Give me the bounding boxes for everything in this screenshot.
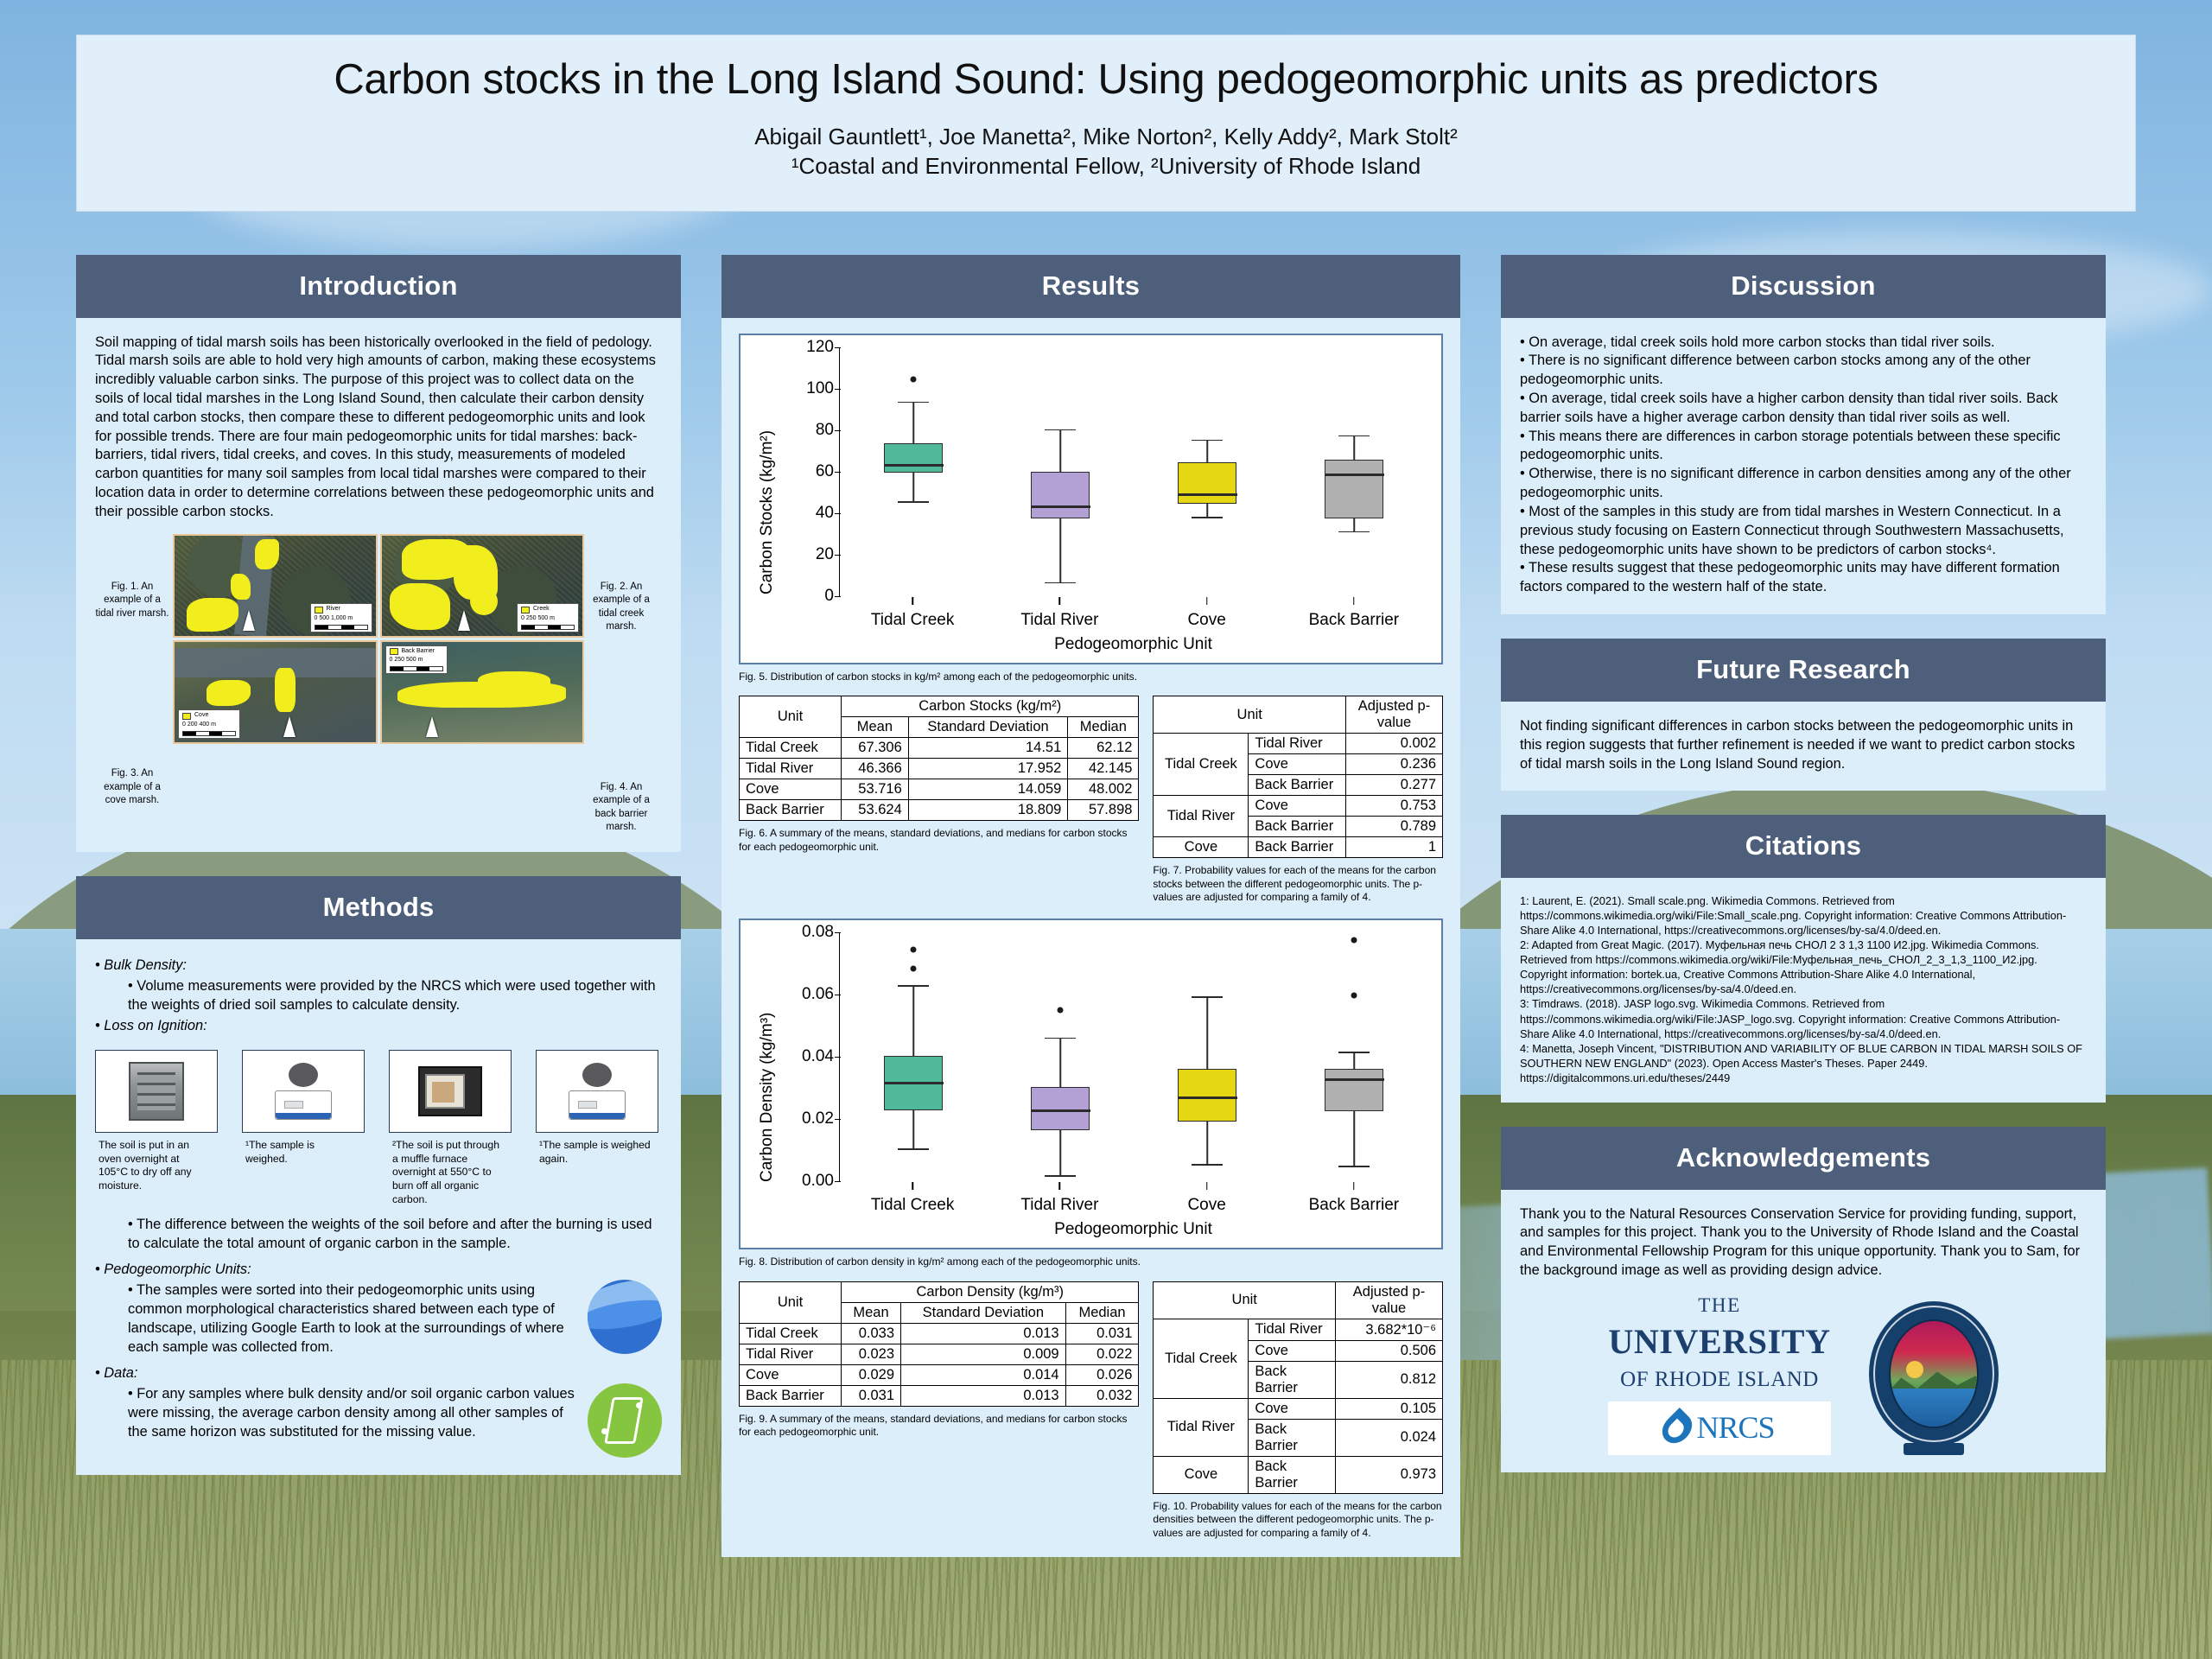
table-cell: 17.952 (908, 759, 1068, 779)
table-header-pvalue: Adjusted p-value (1336, 1281, 1443, 1319)
table-cell: 46.366 (842, 759, 909, 779)
table-header-unit: Unit (1154, 1281, 1336, 1319)
flow-step: The soil is put in an oven overnight at … (95, 1050, 218, 1193)
boxplot-cap-lower (898, 1148, 928, 1150)
section-header-introduction: Introduction (76, 255, 681, 318)
table-row: Tidal Creek0.0330.0130.031 (740, 1323, 1139, 1344)
table-cell: Cove (740, 1364, 842, 1385)
boxplot-whisker-lower (1353, 518, 1355, 533)
table-row: Tidal CreekTidal River0.002 (1154, 734, 1443, 754)
chart-y-tick: 0.04 (802, 1047, 834, 1066)
figure-1-caption: Fig. 1. An example of a tidal river mars… (95, 534, 169, 621)
flow-step: ¹The sample is weighed again. (536, 1050, 658, 1166)
table-row: CoveBack Barrier1 (1154, 837, 1443, 858)
boxplot-cap-upper (1192, 996, 1222, 998)
boxplot-box (1178, 462, 1236, 504)
north-arrow-icon (426, 716, 438, 737)
boxplot-group (884, 932, 943, 1181)
table-header-pvalue: Adjusted p-value (1346, 696, 1443, 734)
table-carbon-stocks-pvalues: Unit Adjusted p-value Tidal CreekTidal R… (1153, 696, 1443, 858)
chart-y-tick: 0 (824, 587, 834, 606)
boxplot-median (1178, 1096, 1237, 1099)
future-research-text: Not finding significant differences in c… (1520, 717, 2087, 773)
authors-line: Abigail Gauntlett¹, Joe Manetta², Mike N… (111, 122, 2101, 151)
figure-1-scale-label: 0 500 1,000 m (315, 615, 353, 623)
chart-x-tick-label: Tidal River (986, 596, 1133, 630)
boxplot-group (1031, 932, 1090, 1181)
table-cell-unit-b: Back Barrier (1249, 1361, 1336, 1398)
introduction-text: Soil mapping of tidal marsh soils has be… (95, 334, 662, 522)
table-cell-pvalue: 0.105 (1336, 1398, 1443, 1419)
table-cell: 0.026 (1065, 1364, 1139, 1385)
uri-logo: THE UNIVERSITY OF RHODE ISLAND (1608, 1293, 1830, 1394)
methods-item: The difference between the weights of th… (128, 1216, 662, 1254)
chart-x-axis-label: Pedogeomorphic Unit (839, 1220, 1427, 1239)
boxplot-median (1325, 1078, 1384, 1081)
table-cell-unit-b: Back Barrier (1249, 817, 1346, 837)
drying-oven-icon (129, 1062, 184, 1121)
muffle-furnace-icon (418, 1066, 482, 1116)
affiliations-line: ¹Coastal and Environmental Fellow, ²Univ… (111, 151, 2101, 181)
table-cell: 0.033 (842, 1323, 901, 1344)
table-row: Tidal River0.0230.0090.022 (740, 1344, 1139, 1364)
figure-4-legend-label: Back Barrier (402, 648, 435, 656)
table-cell-unit-b: Cove (1249, 754, 1346, 775)
boxplot-whisker-lower (912, 473, 914, 503)
table-row: Cove0.0290.0140.026 (740, 1364, 1139, 1385)
table-carbon-stocks-summary: Unit Carbon Stocks (kg/m²) Mean Standard… (739, 696, 1139, 821)
chart-x-tick-label: Cove (1134, 596, 1281, 630)
balance-scale-icon (270, 1063, 337, 1120)
table-header-unit: Unit (740, 1281, 842, 1323)
table-header-median: Median (1065, 1302, 1139, 1323)
discussion-bullet: • Otherwise, there is no significant dif… (1520, 465, 2087, 503)
chart-y-tick: 100 (806, 379, 834, 398)
table-cell-pvalue: 3.682*10⁻⁶ (1336, 1319, 1443, 1340)
chart-carbon-stocks-boxplot: Carbon Stocks (kg/m²) 020406080100120 Ti… (739, 334, 1443, 664)
methods-panel: Bulk Density: Volume measurements were p… (76, 939, 681, 1475)
poster-banner: Carbon stocks in the Long Island Sound: … (76, 35, 2136, 212)
table-cell: Back Barrier (740, 1385, 842, 1406)
table-cell-pvalue: 0.236 (1346, 754, 1443, 775)
figure-5-caption: Fig. 5. Distribution of carbon stocks in… (739, 671, 1443, 684)
boxplot-cap-lower (1045, 1175, 1075, 1177)
boxplot-median (884, 464, 944, 467)
table-header-mean: Mean (842, 1302, 901, 1323)
google-earth-logo-icon (588, 1280, 662, 1354)
figure-2-scale-label: 0 250 500 m (521, 615, 555, 623)
boxplot-whisker-lower (912, 1110, 914, 1150)
table-cell-unit-b: Tidal River (1249, 734, 1346, 754)
chart-y-tick: 60 (816, 462, 834, 481)
table-cell: Cove (740, 779, 842, 800)
chart-y-axis-label: Carbon Density (kg/m³) (754, 932, 777, 1239)
figure-4-scale-label: 0 250 500 m (390, 657, 423, 664)
nrcs-logo: NRCS (1608, 1402, 1830, 1455)
table-cell: Back Barrier (740, 800, 842, 821)
table-cell: 0.023 (842, 1344, 901, 1364)
table-cell: Tidal Creek (740, 1323, 842, 1344)
acknowledgements-text: Thank you to the Natural Resources Conse… (1520, 1205, 2087, 1281)
chart-carbon-density-boxplot: Carbon Density (kg/m³) 0.000.020.040.060… (739, 918, 1443, 1249)
table-cell-unit-a: Cove (1154, 837, 1249, 858)
balance-scale-icon (563, 1063, 631, 1120)
boxplot-whisker-upper (1059, 430, 1061, 472)
boxplot-cap-upper (898, 402, 928, 404)
table-cell: 62.12 (1068, 738, 1139, 759)
figure-6-caption: Fig. 6. A summary of the means, standard… (739, 827, 1139, 854)
boxplot-median (1325, 474, 1384, 476)
uri-logo-line1: THE (1608, 1293, 1830, 1319)
table-row: Cove53.71614.05948.002 (740, 779, 1139, 800)
boxplot-whisker-upper (912, 987, 914, 1056)
methods-item: The samples were sorted into their pedog… (128, 1281, 579, 1357)
table-cell-unit-b: Back Barrier (1249, 1456, 1336, 1493)
table-cell: 0.014 (901, 1364, 1066, 1385)
boxplot-cap-upper (898, 985, 928, 987)
boxplot-cap-upper (1192, 440, 1222, 442)
figure-2-map-tidal-creek: Creek 0 250 500 m (380, 534, 585, 638)
table-header-mean: Mean (842, 717, 909, 738)
boxplot-box (884, 1056, 943, 1110)
future-research-panel: Not finding significant differences in c… (1501, 702, 2106, 791)
boxplot-cap-upper (1338, 435, 1369, 437)
citations-panel: 1: Laurent, E. (2021). Small scale.png. … (1501, 878, 2106, 1102)
boxplot-whisker-lower (1059, 518, 1061, 584)
boxplot-box (1325, 460, 1383, 518)
boxplot-box (884, 443, 943, 473)
table-cell: 0.013 (901, 1385, 1066, 1406)
methods-item: Bulk Density: (95, 957, 662, 976)
table-row: Tidal RiverCove0.753 (1154, 796, 1443, 817)
chart-y-tick: 0.06 (802, 985, 834, 1004)
table-cell-unit-b: Back Barrier (1249, 837, 1346, 858)
boxplot-group (1325, 347, 1383, 596)
figure-10-caption: Fig. 10. Probability values for each of … (1153, 1500, 1443, 1541)
table-header-unit: Unit (740, 696, 842, 738)
boxplot-whisker-upper (912, 403, 914, 443)
table-cell: 0.013 (901, 1323, 1066, 1344)
chart-y-tick: 120 (806, 338, 834, 357)
section-header-future-research: Future Research (1501, 639, 2106, 702)
table-row: Tidal RiverCove0.105 (1154, 1398, 1443, 1419)
boxplot-cap-upper (1338, 1052, 1369, 1053)
figure-3-legend-label: Cove (194, 712, 208, 720)
figure-3-caption: Fig. 3. An example of a cove marsh. (95, 620, 169, 808)
north-arrow-icon (458, 610, 470, 631)
discussion-bullet: • On average, tidal creek soils hold mor… (1520, 334, 2087, 353)
table-cell: 14.059 (908, 779, 1068, 800)
table-cell-unit-b: Back Barrier (1249, 775, 1346, 796)
boxplot-whisker-upper (1353, 436, 1355, 460)
section-header-discussion: Discussion (1501, 255, 2106, 318)
table-cell-unit-a: Tidal Creek (1154, 1319, 1249, 1398)
discussion-bullet: • On average, tidal creek soils have a h… (1520, 390, 2087, 428)
table-cell: 0.031 (842, 1385, 901, 1406)
boxplot-outlier (1351, 938, 1357, 944)
flow-step-caption: The soil is put in an oven overnight at … (95, 1133, 218, 1193)
boxplot-cap-upper (1045, 429, 1075, 431)
table-header-sd: Standard Deviation (908, 717, 1068, 738)
boxplot-median (884, 1082, 944, 1084)
table-cell-pvalue: 0.024 (1336, 1419, 1443, 1456)
boxplot-box (1178, 1069, 1236, 1121)
boxplot-cap-upper (1045, 1038, 1075, 1039)
chart-y-tick: 80 (816, 421, 834, 440)
boxplot-box (1325, 1069, 1383, 1110)
table-cell-unit-a: Tidal River (1154, 1398, 1249, 1456)
chart-y-tick: 40 (816, 504, 834, 523)
chart-y-axis: 020406080100120 (777, 347, 839, 596)
chart-y-axis: 0.000.020.040.060.08 (777, 932, 839, 1181)
methods-item: Data: (95, 1364, 662, 1383)
table-cell: 67.306 (842, 738, 909, 759)
jasp-logo-icon (588, 1383, 662, 1458)
discussion-bullet: • Most of the samples in this study are … (1520, 503, 2087, 559)
boxplot-cap-lower (1045, 582, 1075, 584)
figure-8-caption: Fig. 8. Distribution of carbon density i… (739, 1255, 1443, 1269)
chart-x-tick-label: Back Barrier (1281, 1181, 1427, 1215)
table-cell: 14.51 (908, 738, 1068, 759)
figure-2-caption: Fig. 2. An example of a tidal creek mars… (584, 534, 658, 634)
boxplot-cap-lower (1192, 517, 1222, 518)
table-cell-pvalue: 0.753 (1346, 796, 1443, 817)
table-carbon-density-summary: Unit Carbon Density (kg/m³) Mean Standar… (739, 1281, 1139, 1407)
boxplot-outlier (911, 946, 917, 952)
table-cell: 0.032 (1065, 1385, 1139, 1406)
section-header-results: Results (721, 255, 1460, 318)
table-cell-pvalue: 1 (1346, 837, 1443, 858)
boxplot-group (1031, 347, 1090, 596)
citation-entry: 2: Adapted from Great Magic. (2017). Муф… (1520, 938, 2087, 996)
discussion-bullet: • These results suggest that these pedog… (1520, 559, 2087, 597)
uri-logo-line3: OF RHODE ISLAND (1608, 1365, 1830, 1394)
boxplot-whisker-upper (1206, 998, 1208, 1070)
acknowledgements-panel: Thank you to the Natural Resources Conse… (1501, 1190, 2106, 1472)
table-cell-unit-b: Cove (1249, 1398, 1336, 1419)
chart-y-axis-label: Carbon Stocks (kg/m²) (754, 347, 777, 654)
figure-2-legend-label: Creek (533, 606, 550, 613)
table-super-header: Carbon Stocks (kg/m²) (842, 696, 1139, 717)
table-cell-unit-b: Cove (1249, 1340, 1336, 1361)
table-row: Back Barrier0.0310.0130.032 (740, 1385, 1139, 1406)
citation-entry: 1: Laurent, E. (2021). Small scale.png. … (1520, 893, 2087, 938)
boxplot-group (884, 347, 943, 596)
figure-3-scale-label: 0 200 400 m (182, 721, 216, 729)
methods-item: Loss on Ignition: (95, 1017, 662, 1036)
boxplot-box (1031, 1087, 1090, 1130)
boxplot-outlier (911, 377, 917, 383)
boxplot-whisker-upper (1206, 441, 1208, 462)
flow-step: ²The soil is put through a muffle furnac… (389, 1050, 512, 1207)
boxplot-outlier (1058, 1007, 1064, 1014)
table-carbon-density-pvalues: Unit Adjusted p-value Tidal CreekTidal R… (1153, 1281, 1443, 1494)
table-cell: 57.898 (1068, 800, 1139, 821)
table-cell: 42.145 (1068, 759, 1139, 779)
boxplot-cap-lower (898, 501, 928, 503)
table-cell-pvalue: 0.506 (1336, 1340, 1443, 1361)
chart-x-axis-label: Pedogeomorphic Unit (839, 635, 1427, 654)
chart-x-tick-label: Back Barrier (1281, 596, 1427, 630)
coastal-fellows-program-logo (1869, 1301, 1999, 1446)
flow-step-caption: ¹The sample is weighed. (242, 1133, 365, 1166)
boxplot-group (1178, 932, 1236, 1181)
table-cell: Tidal River (740, 759, 842, 779)
table-cell-unit-b: Cove (1249, 796, 1346, 817)
introduction-figure-block: Fig. 1. An example of a tidal river mars… (95, 534, 662, 835)
boxplot-median (1031, 505, 1090, 508)
table-cell-pvalue: 0.277 (1346, 775, 1443, 796)
table-cell-unit-a: Tidal Creek (1154, 734, 1249, 796)
boxplot-whisker-lower (1206, 504, 1208, 518)
north-arrow-icon (243, 610, 255, 631)
chart-y-tick: 0.08 (802, 923, 834, 942)
nrcs-logo-text: NRCS (1696, 1408, 1774, 1449)
introduction-panel: Soil mapping of tidal marsh soils has be… (76, 318, 681, 852)
citation-entry: 4: Manetta, Joseph Vincent, "DISTRIBUTIO… (1520, 1041, 2087, 1085)
methods-item: For any samples where bulk density and/o… (128, 1385, 579, 1442)
figure-4-caption: Fig. 4. An example of a back barrier mar… (584, 634, 658, 835)
discussion-panel: • On average, tidal creek soils hold mor… (1501, 318, 2106, 614)
north-arrow-icon (283, 716, 296, 737)
boxplot-whisker-lower (1353, 1111, 1355, 1167)
table-cell: Tidal Creek (740, 738, 842, 759)
table-cell-unit-a: Tidal River (1154, 796, 1249, 837)
boxplot-median (1178, 493, 1237, 496)
table-cell: Tidal River (740, 1344, 842, 1364)
table-row: Back Barrier53.62418.80957.898 (740, 800, 1139, 821)
table-cell: 53.624 (842, 800, 909, 821)
chart-x-tick-label: Tidal River (986, 1181, 1133, 1215)
figure-3-map-cove: Cove 0 200 400 m (173, 640, 378, 744)
table-row: Tidal CreekTidal River3.682*10⁻⁶ (1154, 1319, 1443, 1340)
table-header-unit: Unit (1154, 696, 1346, 734)
table-cell: 48.002 (1068, 779, 1139, 800)
chart-y-tick: 20 (816, 545, 834, 564)
boxplot-whisker-upper (1353, 1053, 1355, 1070)
boxplot-cap-lower (1338, 1166, 1369, 1167)
figure-1-legend-label: River (327, 606, 340, 613)
results-panel: Carbon Stocks (kg/m²) 020406080100120 Ti… (721, 318, 1460, 1558)
table-cell-unit-b: Tidal River (1249, 1319, 1336, 1340)
figure-4-map-back-barrier: Back Barrier 0 250 500 m (380, 640, 585, 744)
chart-y-tick: 0.02 (802, 1109, 834, 1128)
table-cell-pvalue: 0.973 (1336, 1456, 1443, 1493)
chart-x-tick-label: Cove (1134, 1181, 1281, 1215)
flow-step-caption: ²The soil is put through a muffle furnac… (389, 1133, 512, 1207)
table-super-header: Carbon Density (kg/m³) (842, 1281, 1139, 1302)
table-cell: 0.029 (842, 1364, 901, 1385)
table-header-sd: Standard Deviation (901, 1302, 1066, 1323)
figure-9-caption: Fig. 9. A summary of the means, standard… (739, 1413, 1139, 1440)
discussion-bullet: • This means there are differences in ca… (1520, 428, 2087, 466)
methods-item: Pedogeomorphic Units: (95, 1261, 662, 1280)
boxplot-whisker-lower (1206, 1122, 1208, 1166)
water-drop-icon (1656, 1408, 1698, 1449)
page-title: Carbon stocks in the Long Island Sound: … (111, 58, 2101, 103)
table-cell: 0.022 (1065, 1344, 1139, 1364)
table-cell-unit-b: Back Barrier (1249, 1419, 1336, 1456)
boxplot-cap-lower (1192, 1164, 1222, 1166)
table-row: Tidal River46.36617.95242.145 (740, 759, 1139, 779)
table-header-median: Median (1068, 717, 1139, 738)
section-header-citations: Citations (1501, 815, 2106, 878)
section-header-acknowledgements: Acknowledgements (1501, 1127, 2106, 1190)
table-cell: 18.809 (908, 800, 1068, 821)
chart-x-tick-labels: Tidal CreekTidal RiverCoveBack Barrier (839, 596, 1427, 630)
chart-x-tick-label: Tidal Creek (839, 596, 986, 630)
flow-step: ¹The sample is weighed. (242, 1050, 365, 1166)
chart-y-tick: 0.00 (802, 1172, 834, 1191)
section-header-methods: Methods (76, 876, 681, 939)
table-cell: 0.031 (1065, 1323, 1139, 1344)
boxplot-box (1031, 472, 1090, 518)
chart-plot-area (839, 932, 1427, 1181)
table-cell: 53.716 (842, 779, 909, 800)
table-row: CoveBack Barrier0.973 (1154, 1456, 1443, 1493)
chart-plot-area (839, 347, 1427, 596)
figure-7-caption: Fig. 7. Probability values for each of t… (1153, 864, 1443, 905)
loss-on-ignition-flow: The soil is put in an oven overnight at … (95, 1050, 662, 1207)
boxplot-median (1031, 1109, 1090, 1112)
chart-x-tick-labels: Tidal CreekTidal RiverCoveBack Barrier (839, 1181, 1427, 1215)
table-cell-pvalue: 0.002 (1346, 734, 1443, 754)
table-row: Tidal Creek67.30614.5162.12 (740, 738, 1139, 759)
boxplot-outlier (1351, 992, 1357, 998)
boxplot-cap-lower (1338, 531, 1369, 533)
boxplot-whisker-upper (1059, 1039, 1061, 1087)
flow-step-caption: ¹The sample is weighed again. (536, 1133, 658, 1166)
table-cell-unit-a: Cove (1154, 1456, 1249, 1493)
figure-1-map-tidal-river: River 0 500 1,000 m (173, 534, 378, 638)
boxplot-outlier (911, 965, 917, 971)
uri-logo-line2: UNIVERSITY (1608, 1319, 1830, 1364)
chart-x-tick-label: Tidal Creek (839, 1181, 986, 1215)
table-cell-pvalue: 0.789 (1346, 817, 1443, 837)
methods-item: Volume measurements were provided by the… (128, 977, 662, 1015)
discussion-bullet: • There is no significant difference bet… (1520, 352, 2087, 390)
boxplot-group (1178, 347, 1236, 596)
boxplot-group (1325, 932, 1383, 1181)
boxplot-whisker-lower (1059, 1130, 1061, 1176)
table-cell-pvalue: 0.812 (1336, 1361, 1443, 1398)
table-cell: 0.009 (901, 1344, 1066, 1364)
citation-entry: 3: Timdraws. (2018). JASP logo.svg. Wiki… (1520, 996, 2087, 1040)
